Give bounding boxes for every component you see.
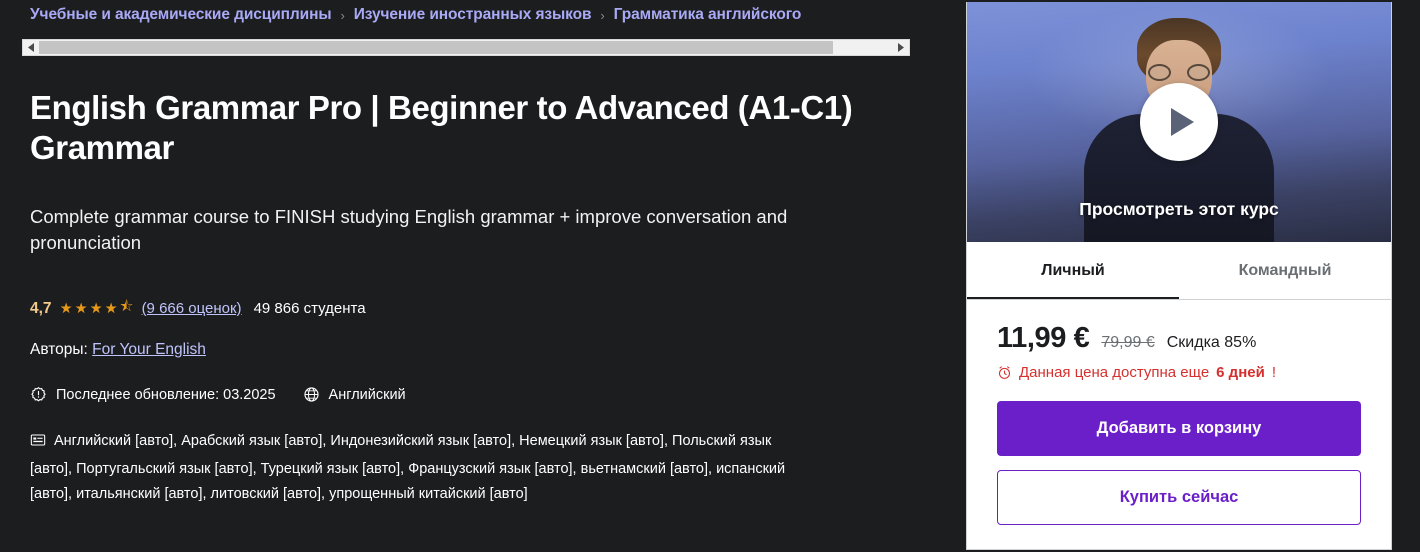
cta-section: Добавить в корзину Купить сейчас	[967, 381, 1391, 525]
add-to-cart-button[interactable]: Добавить в корзину	[997, 401, 1361, 456]
breadcrumb-item-1[interactable]: Учебные и академические дисциплины	[30, 6, 331, 24]
captions-row: Английский [авто], Арабский язык [авто],…	[30, 429, 790, 507]
instructor-glasses	[1148, 64, 1210, 81]
buy-now-button[interactable]: Купить сейчас	[997, 470, 1361, 525]
course-info-column: Учебные и академические дисциплины › Изу…	[0, 0, 960, 552]
purchase-tabs: Личный Командный	[967, 242, 1391, 300]
star-icon: ★	[105, 301, 119, 317]
author-link[interactable]: For Your English	[92, 341, 206, 358]
price-row: 11,99 € 79,99 € Скидка 85%	[997, 322, 1361, 355]
horizontal-scrollbar[interactable]	[22, 39, 910, 56]
course-meta-row: Последнее обновление: 03.2025 Английский	[30, 386, 406, 403]
scroll-right-arrow-icon[interactable]	[893, 40, 909, 55]
closed-captions-icon	[30, 432, 46, 457]
half-star-icon: ⯪	[120, 296, 134, 321]
play-icon[interactable]	[1140, 83, 1218, 161]
rating-row: 4,7 ★ ★ ★ ★ ⯪ (9 666 оценок) 49 866 студ…	[30, 296, 366, 321]
purchase-card: Просмотреть этот курс Личный Командный 1…	[966, 2, 1392, 550]
star-icon: ★	[90, 301, 104, 317]
breadcrumb-item-3[interactable]: Грамматика английского	[614, 6, 802, 24]
authors-row: Авторы: For Your English	[30, 341, 206, 359]
scroll-left-arrow-icon[interactable]	[23, 40, 39, 55]
current-price: 11,99 €	[997, 322, 1089, 355]
alarm-clock-icon	[997, 365, 1012, 380]
course-preview-video[interactable]: Просмотреть этот курс	[967, 2, 1391, 242]
captions-languages: Английский [авто], Арабский язык [авто],…	[30, 433, 785, 502]
tab-team[interactable]: Командный	[1179, 242, 1391, 299]
students-count: 49 866 студента	[254, 300, 366, 317]
breadcrumb-separator-icon: ›	[600, 8, 604, 23]
original-price: 79,99 €	[1101, 334, 1154, 352]
price-deadline-row: Данная цена доступна еще 6 дней!	[997, 364, 1361, 381]
breadcrumb-separator-icon: ›	[340, 8, 344, 23]
tab-personal[interactable]: Личный	[967, 242, 1179, 299]
discount-label: Скидка 85%	[1167, 334, 1257, 352]
page-title: English Grammar Pro | Beginner to Advanc…	[30, 88, 910, 169]
authors-label: Авторы:	[30, 341, 88, 358]
deadline-days: 6 дней	[1216, 364, 1265, 381]
course-landing-page: Учебные и академические дисциплины › Изу…	[0, 0, 1420, 552]
scrollbar-track[interactable]	[39, 40, 893, 55]
breadcrumb-item-2[interactable]: Изучение иностранных языков	[354, 6, 592, 24]
last-update-text: Последнее обновление: 03.2025	[56, 387, 276, 403]
star-icon: ★	[60, 301, 74, 317]
globe-icon	[303, 386, 320, 403]
reviews-count-link[interactable]: (9 666 оценок)	[142, 300, 242, 317]
rating-stars: ★ ★ ★ ★ ⯪	[60, 296, 134, 321]
rating-value: 4,7	[30, 300, 52, 318]
price-section: 11,99 € 79,99 € Скидка 85% Данная цена д…	[967, 300, 1391, 381]
last-update-badge-icon	[30, 386, 47, 403]
course-language: Английский	[329, 387, 406, 403]
course-subtitle: Complete grammar course to FINISH studyi…	[30, 204, 820, 255]
breadcrumb: Учебные и академические дисциплины › Изу…	[30, 6, 801, 24]
deadline-suffix: !	[1272, 364, 1276, 381]
star-icon: ★	[75, 301, 89, 317]
preview-course-label: Просмотреть этот курс	[967, 199, 1391, 220]
deadline-text: Данная цена доступна еще	[1019, 364, 1209, 381]
scrollbar-thumb[interactable]	[39, 41, 833, 54]
